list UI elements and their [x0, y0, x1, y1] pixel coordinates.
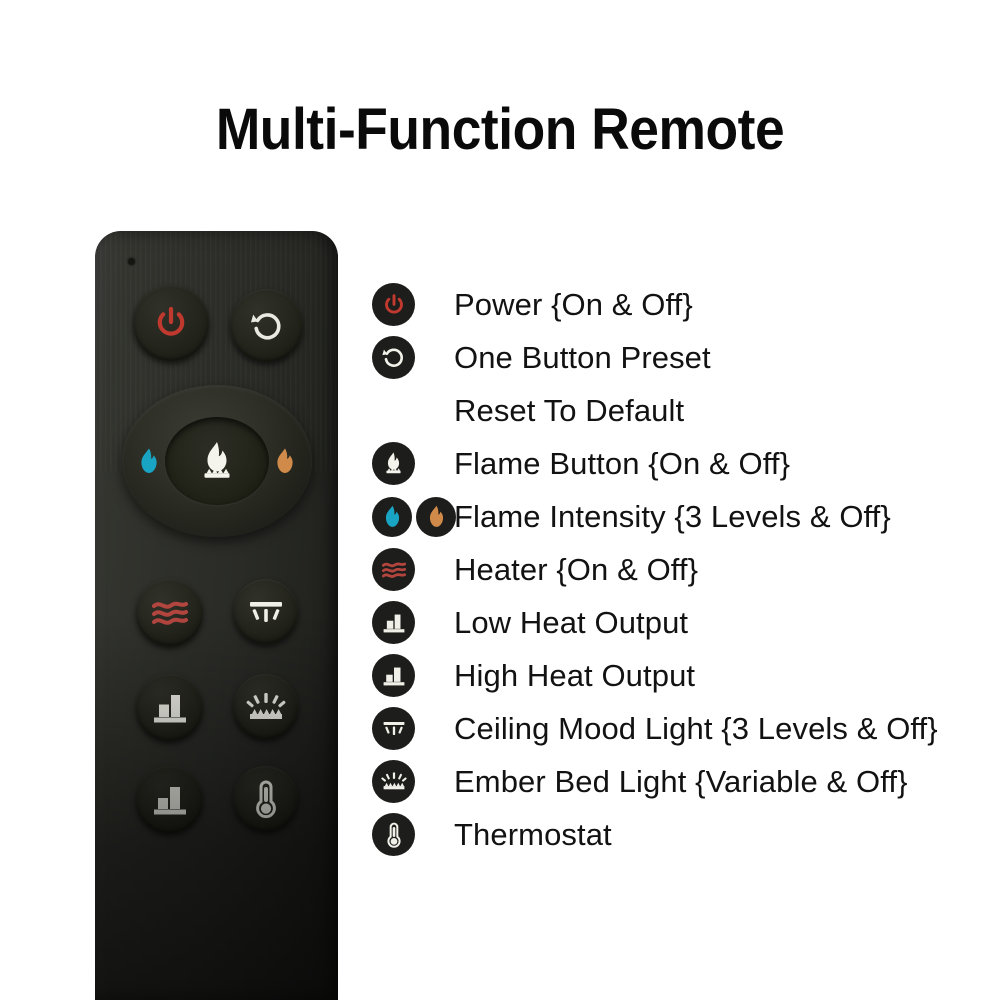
ceiling-light-chip: [372, 707, 415, 750]
legend-row-ember-light: Ember Bed Light {Variable & Off}: [372, 755, 992, 808]
low-heat-chip: [372, 601, 415, 644]
legend-row-reset-default: Reset To Default: [372, 384, 992, 437]
ember-light-chip: [372, 760, 415, 803]
legend-label: High Heat Output: [454, 658, 695, 694]
legend-row-heater: Heater {On & Off}: [372, 543, 992, 596]
legend-list: Power {On & Off} One Button Preset Reset…: [372, 278, 992, 861]
flame-orange-icon: [274, 447, 296, 475]
flame-blue-icon: [138, 447, 160, 475]
low-heat-bars-icon: [381, 611, 407, 635]
legend-row-flame-intensity: Flame Intensity {3 Levels & Off}: [372, 490, 992, 543]
remote-button-power[interactable]: [133, 285, 209, 361]
legend-icons: [372, 283, 454, 326]
legend-label: Low Heat Output: [454, 605, 688, 641]
remote-flame-ring-pad[interactable]: [122, 385, 312, 537]
ceiling-light-icon: [246, 595, 286, 629]
legend-icons: [372, 601, 454, 644]
legend-icons: [372, 760, 454, 803]
remote-button-flame-down[interactable]: [136, 446, 162, 476]
flame-chip: [372, 442, 415, 485]
thermometer-icon: [251, 779, 281, 819]
flame-icon: [380, 450, 407, 477]
high-heat-chip: [372, 654, 415, 697]
power-icon: [382, 293, 406, 317]
legend-label: Flame Button {On & Off}: [454, 446, 790, 482]
thermostat-chip: [372, 813, 415, 856]
high-heat-bars-icon: [381, 664, 407, 688]
legend-row-ceiling-light: Ceiling Mood Light {3 Levels & Off}: [372, 702, 992, 755]
legend-row-high-heat: High Heat Output: [372, 649, 992, 702]
legend-icon-spacer: [372, 389, 415, 432]
reset-arrow-icon: [249, 308, 285, 344]
legend-row-low-heat: Low Heat Output: [372, 596, 992, 649]
legend-label: One Button Preset: [454, 340, 711, 376]
flame-orange-chip: [416, 497, 456, 537]
reset-chip: [372, 336, 415, 379]
legend-icons: [372, 442, 454, 485]
remote-body: [95, 231, 338, 1000]
remote-button-high-heat[interactable]: [136, 766, 203, 833]
product-diagram-canvas: Multi-Function Remote: [0, 0, 1000, 1000]
remote-button-preset-reset[interactable]: [230, 289, 303, 362]
thermometer-icon: [384, 821, 404, 849]
legend-icons: [372, 336, 454, 379]
remote-button-low-heat[interactable]: [136, 674, 203, 741]
legend-icons: [372, 813, 454, 856]
led-indicator-dot: [128, 258, 135, 265]
ember-bed-light-icon: [381, 770, 407, 793]
power-chip: [372, 283, 415, 326]
legend-icons: [372, 654, 454, 697]
power-icon: [153, 305, 189, 341]
flame-blue-chip: [372, 497, 412, 537]
legend-icons: [372, 548, 454, 591]
heater-chip: [372, 548, 415, 591]
legend-row-thermostat: Thermostat: [372, 808, 992, 861]
low-heat-bars-icon: [150, 690, 190, 726]
heat-waves-icon: [380, 559, 408, 581]
legend-row-power: Power {On & Off}: [372, 278, 992, 331]
legend-row-flame-button: Flame Button {On & Off}: [372, 437, 992, 490]
reset-arrow-icon: [381, 345, 406, 370]
ceiling-light-icon: [381, 717, 407, 740]
legend-label: Ember Bed Light {Variable & Off}: [454, 764, 908, 800]
legend-row-preset: One Button Preset: [372, 331, 992, 384]
remote-button-ember-light[interactable]: [233, 674, 298, 739]
legend-label: Reset To Default: [454, 393, 684, 429]
high-heat-bars-icon: [150, 782, 190, 818]
ember-bed-light-icon: [246, 690, 286, 724]
legend-icons: [372, 389, 454, 432]
legend-label: Thermostat: [454, 817, 612, 853]
legend-label: Power {On & Off}: [454, 287, 693, 323]
flame-blue-icon: [383, 504, 402, 529]
page-title: Multi-Function Remote: [40, 96, 960, 163]
remote-button-heater[interactable]: [136, 579, 203, 646]
remote-body-shading: [95, 611, 338, 1000]
legend-icons: [372, 707, 454, 750]
legend-label: Heater {On & Off}: [454, 552, 698, 588]
heat-waves-icon: [149, 597, 191, 629]
legend-icons: [372, 497, 454, 537]
legend-label: Ceiling Mood Light {3 Levels & Off}: [454, 711, 938, 747]
remote-button-flame-center[interactable]: [165, 417, 269, 505]
remote-button-flame-up[interactable]: [272, 446, 298, 476]
legend-label: Flame Intensity {3 Levels & Off}: [454, 499, 891, 535]
remote-button-thermostat[interactable]: [233, 766, 298, 831]
remote-button-ceiling-light[interactable]: [233, 579, 298, 644]
flame-orange-icon: [427, 504, 446, 529]
flame-icon: [194, 438, 240, 484]
